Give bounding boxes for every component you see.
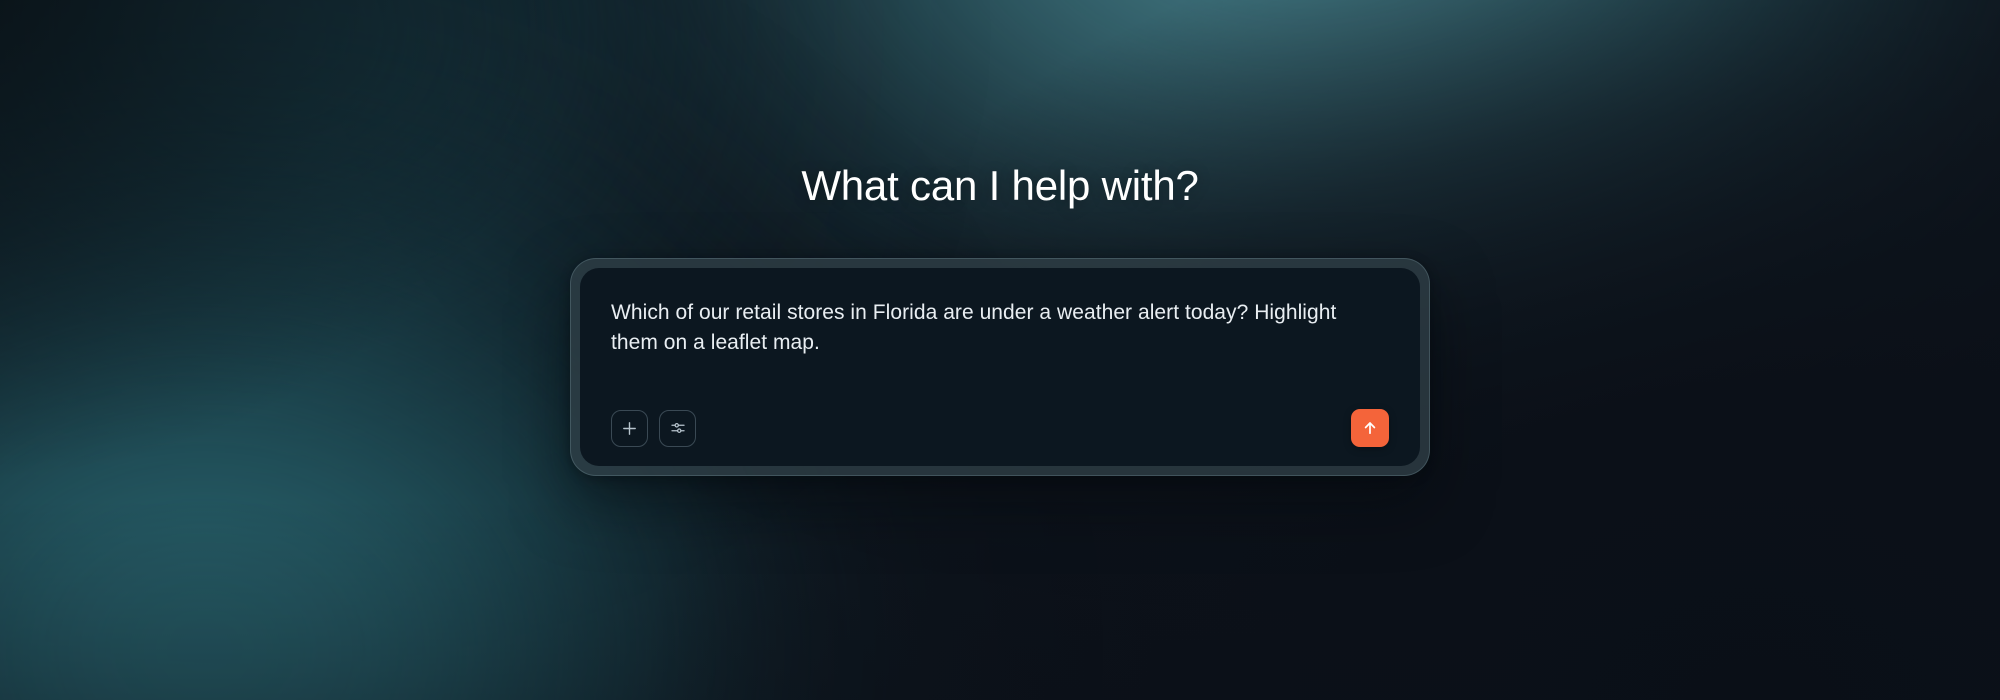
- send-button[interactable]: [1351, 409, 1389, 447]
- composer-card[interactable]: Which of our retail stores in Florida ar…: [580, 268, 1420, 466]
- tools-settings-button[interactable]: [659, 410, 696, 447]
- arrow-up-icon: [1361, 419, 1379, 437]
- plus-icon: [621, 420, 638, 437]
- composer-toolbar: [611, 389, 1389, 447]
- main-stage: What can I help with? Which of our retai…: [0, 0, 2000, 700]
- prompt-input[interactable]: Which of our retail stores in Florida ar…: [611, 298, 1389, 358]
- add-attachment-button[interactable]: [611, 410, 648, 447]
- page-title: What can I help with?: [801, 165, 1198, 207]
- sliders-icon: [669, 419, 687, 437]
- composer-shell: Which of our retail stores in Florida ar…: [570, 258, 1430, 476]
